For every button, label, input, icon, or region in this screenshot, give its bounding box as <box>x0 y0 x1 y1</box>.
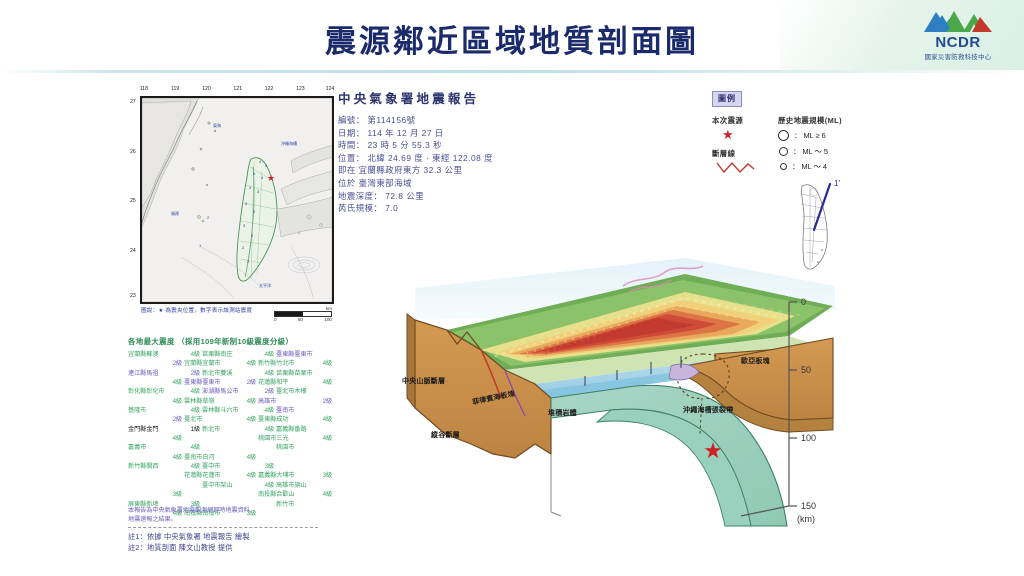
intensity-location: 臺北市 <box>184 415 200 424</box>
intensity-level: 3級 <box>258 462 274 471</box>
report-line-id: 編號： 第114156號 <box>338 114 553 127</box>
ncdr-logo-mark <box>922 8 994 34</box>
map-latitude-axis: 27 26 25 24 23 <box>127 96 139 302</box>
intensity-location: 雲林縣斗六市 <box>202 406 256 415</box>
label-okinawa-trough-rift: 沖繩海槽張裂帶 <box>683 405 733 415</box>
intensity-location: 新北市雙溪 <box>202 369 256 378</box>
intensity-location: 新北市 <box>202 425 256 434</box>
svg-text:★: ★ <box>267 173 275 183</box>
intensity-level: 4級 <box>184 462 200 471</box>
magnitude-circle-icon <box>779 147 788 156</box>
intensity-level: 4級 <box>184 406 200 415</box>
lon-tick: 123 <box>296 86 305 92</box>
lon-tick: 118 <box>140 86 148 92</box>
intensity-location: 嘉義縣番路 <box>276 425 332 434</box>
scalebar-num: 100 <box>324 317 332 323</box>
intensity-level: 4級 <box>258 481 274 490</box>
intensity-location <box>128 481 182 490</box>
intensity-location: 桃園市三光 <box>258 434 274 443</box>
intensity-location: 嘉義市 <box>128 443 182 452</box>
lon-tick: 122 <box>265 86 274 92</box>
intensity-level: 4級 <box>202 359 256 368</box>
legend-panel: 圖例 本次震源 ★ 斷層線 歷史地震規模(ML) ： ML ≥ 6 ： ML ～… <box>712 88 892 185</box>
intensity-location: 桃園市 <box>276 443 332 452</box>
intensity-location: 苗栗縣苗栗市 <box>276 369 332 378</box>
cross-section-graphic: ★ 0 50 100 150 (km) <box>385 258 835 528</box>
intensity-table: 宜蘭縣蘇澳4級苗栗縣南庄4級臺東縣臺東市2級宜蘭縣宜蘭市4級新竹縣竹北市4級連江… <box>128 350 328 518</box>
intensity-level: 2級 <box>128 415 182 424</box>
intensity-location <box>276 462 332 471</box>
intensity-location: 宜蘭縣蘇澳 <box>128 350 182 359</box>
intensity-location <box>202 443 256 452</box>
geological-cross-section: ★ 0 50 100 150 (km) 中央山脈斷層 縱谷斷層 菲律賓海板塊 堆… <box>385 258 835 528</box>
map-scalebar: km 0 50 100 <box>274 306 332 323</box>
map-canvas[interactable]: ★ 44 44 43 33 32 22 21 沖繩海槽 東海 福建 太平洋 <box>140 96 334 304</box>
intensity-level: 4級 <box>184 443 200 452</box>
inset-section-label: 1' <box>834 179 840 188</box>
intensity-level: 4級 <box>128 434 182 443</box>
epicenter-star-icon: ★ <box>722 128 774 141</box>
intensity-location: 嘉義縣大埔市 <box>258 471 274 480</box>
map-longitude-axis: 118 119 120 121 122 123 124 <box>140 86 332 95</box>
intensity-level <box>258 443 274 452</box>
lat-tick: 24 <box>130 248 136 254</box>
label-longitudinal-valley-fault: 縱谷斷層 <box>431 430 460 440</box>
intensity-level: 4級 <box>202 453 256 462</box>
depth-tick-0: 0 <box>801 297 806 307</box>
intensity-location: 臺北市木柵 <box>276 387 332 396</box>
intensity-location: 高雄市旗山 <box>276 481 332 490</box>
earthquake-report: 中央氣象署地震報告 編號： 第114156號 日期： 114 年 12 月 27… <box>338 88 553 215</box>
intensity-location: 苗栗縣南庄 <box>202 350 256 359</box>
page-title: 震源鄰近區域地質剖面圖 <box>0 16 1024 61</box>
footnotes: 本報告為中央氣象署地震觀測網即時地震資料 地震速報之結果。 註1：依據 中央氣象… <box>128 507 348 553</box>
intensity-level <box>202 490 256 499</box>
legend-magnitude-item: ： ML ～ 5 <box>778 146 890 157</box>
intensity-level: 4級 <box>128 378 182 387</box>
intensity-level: 4級 <box>276 490 332 499</box>
intensity-level: 4級 <box>202 415 256 424</box>
svg-text:太平洋: 太平洋 <box>259 282 271 288</box>
intensity-level <box>184 481 200 490</box>
report-line-coords: 位置： 北緯 24.69 度 · 東經 122.08 度 <box>338 152 553 165</box>
intensity-location: 南投縣合歡山 <box>258 490 274 499</box>
intensity-level: 4級 <box>276 359 332 368</box>
intensity-location <box>184 434 200 443</box>
ncdr-logo-text: NCDR <box>912 35 1004 50</box>
lon-tick: 120 <box>202 86 211 92</box>
intensity-level: 4級 <box>184 387 200 396</box>
legend-symbols-column: 本次震源 ★ 斷層線 <box>712 115 774 179</box>
legend-magnitude-header: 歷史地震規模(ML) <box>778 115 890 126</box>
svg-text:東海: 東海 <box>213 122 221 128</box>
intensity-level <box>128 471 182 480</box>
legend-magnitude-text: ： ML ～ 5 <box>793 146 828 157</box>
footnote-note1: 註1：依據 中央氣象署 地震報告 繪製 <box>128 531 348 542</box>
intensity-location: 臺中市 <box>202 462 256 471</box>
lat-tick: 23 <box>130 293 136 299</box>
intensity-level <box>276 453 332 462</box>
epicenter-map-panel: 118 119 120 121 122 123 124 27 26 25 24 … <box>127 84 332 316</box>
intensity-location: 連江縣馬祖 <box>128 369 182 378</box>
taiwan-inset-graphic: 1' <box>766 172 862 272</box>
footnote-source-line1: 本報告為中央氣象署地震觀測網即時地震資料 <box>128 507 348 516</box>
taiwan-inset-map: 1' <box>766 172 862 272</box>
intensity-location: 高雄市 <box>258 397 274 406</box>
intensity-level: 4級 <box>128 453 182 462</box>
depth-unit-label: (km) <box>797 514 815 524</box>
intensity-location: 臺東縣臺東市 <box>184 378 200 387</box>
intensity-location: 金門縣金門 <box>128 425 182 434</box>
intensity-level: 4級 <box>276 415 332 424</box>
intensity-level: 2級 <box>258 387 274 396</box>
label-eurasian-plate: 歐亞板塊 <box>741 356 770 366</box>
intensity-location: 臺南市 <box>276 406 332 415</box>
legend-magnitude-text: ： ML ～ 4 <box>792 161 827 172</box>
intensity-level: 2級 <box>184 369 200 378</box>
report-line-magnitude: 芮氏規模： 7.0 <box>338 202 553 215</box>
intensity-location <box>258 453 274 462</box>
intensity-location: 澎湖縣馬公市 <box>202 387 256 396</box>
depth-tick-50: 50 <box>801 365 811 375</box>
footnote-source-line2: 地震速報之結果。 <box>128 516 348 525</box>
scalebar-num: 50 <box>298 317 303 323</box>
report-line-time: 時間： 23 時 5 分 55.3 秒 <box>338 139 553 152</box>
intensity-location: 臺南市白河 <box>184 453 200 462</box>
intensity-location: 臺東縣臺東市 <box>276 350 332 359</box>
intensity-level: 3級 <box>276 471 332 480</box>
page-header: 震源鄰近區域地質剖面圖 NCDR 國家災害防救科技中心 <box>0 0 1024 74</box>
intensity-level: 2級 <box>128 359 182 368</box>
magnitude-circle-icon <box>780 163 787 170</box>
lat-tick: 27 <box>130 99 136 105</box>
intensity-level: 4級 <box>276 378 332 387</box>
depth-tick-150: 150 <box>801 501 816 511</box>
map-caption: 圖說：★ 為震央位置，數字表示該測站震度 <box>141 306 252 314</box>
hypocenter-star-icon: ★ <box>703 438 723 463</box>
lon-tick: 121 <box>233 86 242 92</box>
intensity-location: 臺東縣成功 <box>258 415 274 424</box>
lat-tick: 25 <box>130 198 136 204</box>
intensity-level <box>202 434 256 443</box>
label-central-range-fault: 中央山脈斷層 <box>402 376 445 386</box>
intensity-location: 花蓮縣和平 <box>258 378 274 387</box>
scalebar-num: 0 <box>274 317 277 323</box>
intensity-location: 雲林縣草嶺 <box>184 397 200 406</box>
ncdr-logo: NCDR 國家災害防救科技中心 <box>912 8 1004 66</box>
intensity-table-panel: 各地最大震度 （採用109年新制10級震度分級） 宜蘭縣蘇澳4級苗栗縣南庄4級臺… <box>128 336 328 518</box>
intensity-level: 3級 <box>128 490 182 499</box>
report-line-offset: 即在 宜蘭縣政府東方 32.3 公里 <box>338 164 553 177</box>
intensity-level: 2級 <box>202 378 256 387</box>
lat-tick: 26 <box>130 149 136 155</box>
intensity-location: 宜蘭縣宜蘭市 <box>184 359 200 368</box>
header-divider <box>0 70 1024 73</box>
intensity-location <box>184 490 200 499</box>
report-line-date: 日期： 114 年 12 月 27 日 <box>338 127 553 140</box>
footnote-divider <box>128 527 318 528</box>
fault-line-icon <box>716 161 756 174</box>
intensity-level: 4級 <box>202 397 256 406</box>
map-graphic: ★ 44 44 43 33 32 22 21 沖繩海槽 東海 福建 太平洋 <box>141 97 333 303</box>
intensity-level: 4級 <box>258 369 274 378</box>
intensity-level: 4級 <box>184 350 200 359</box>
intensity-level: 4級 <box>276 434 332 443</box>
intensity-level: 4級 <box>258 425 274 434</box>
intensity-level: 4級 <box>128 397 182 406</box>
intensity-location: 彰化縣彰化市 <box>128 387 182 396</box>
svg-text:沖繩海槽: 沖繩海槽 <box>281 140 297 146</box>
report-line-depth: 地震深度： 72.8 公里 <box>338 190 553 203</box>
legend-title: 圖例 <box>712 91 742 107</box>
intensity-location: 新竹縣關西 <box>128 462 182 471</box>
intensity-level: 4級 <box>258 350 274 359</box>
intensity-level: 4級 <box>202 471 256 480</box>
intensity-level: 4級 <box>258 406 274 415</box>
svg-text:福建: 福建 <box>171 210 179 216</box>
depth-tick-100: 100 <box>801 433 816 443</box>
intensity-level: 2級 <box>276 397 332 406</box>
legend-magnitude-item: ： ML ～ 4 <box>778 161 890 172</box>
lon-tick: 124 <box>326 86 335 92</box>
ncdr-logo-subtitle: 國家災害防救科技中心 <box>912 52 1004 61</box>
scalebar-numbers: 0 50 100 <box>274 317 332 323</box>
legend-epicenter-label: 本次震源 <box>712 115 774 126</box>
lon-tick: 119 <box>171 86 179 92</box>
intensity-location: 基隆市 <box>128 406 182 415</box>
legend-fault-label: 斷層線 <box>712 148 774 159</box>
footnote-note2: 註2：地質剖面 陳文山教授 提供 <box>128 542 348 553</box>
label-accretionary-body: 堆積岩體 <box>548 408 577 418</box>
legend-magnitude-item: ： ML ≥ 6 <box>778 130 890 141</box>
intensity-location: 花蓮縣花蓮市 <box>184 471 200 480</box>
legend-magnitude-column: 歷史地震規模(ML) ： ML ≥ 6 ： ML ～ 5 ： ML ～ 4 <box>778 115 890 173</box>
intensity-location: 新竹縣竹北市 <box>258 359 274 368</box>
legend-magnitude-text: ： ML ≥ 6 <box>794 130 826 141</box>
magnitude-circle-icon <box>778 130 789 141</box>
intensity-level: 1級 <box>184 425 200 434</box>
intensity-table-title: 各地最大震度 （採用109年新制10級震度分級） <box>128 336 328 347</box>
report-line-region: 位於 臺灣東部海域 <box>338 177 553 190</box>
intensity-location: 臺中市梨山 <box>202 481 256 490</box>
report-title: 中央氣象署地震報告 <box>338 88 553 107</box>
